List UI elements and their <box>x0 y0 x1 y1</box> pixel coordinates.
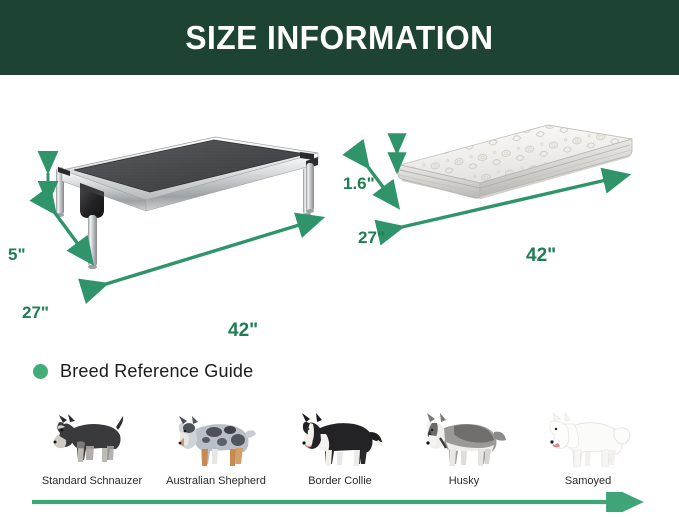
breed-item-husky: Husky <box>402 392 526 487</box>
dim-label-bed-width: 27" <box>22 303 49 323</box>
elevated-bed-illustration <box>0 75 340 340</box>
breed-guide-heading: Breed Reference Guide <box>33 361 253 382</box>
breed-item-australian-shepherd: Australian Shepherd <box>154 392 278 487</box>
samoyed-image <box>540 400 636 472</box>
australian-shepherd-image <box>168 400 264 472</box>
breed-name: Standard Schnauzer <box>42 475 142 487</box>
page-title: SIZE INFORMATION <box>185 19 493 57</box>
dim-label-bed-height: 5" <box>8 245 26 265</box>
dim-arrow-length <box>106 218 322 284</box>
husky-image <box>416 400 512 472</box>
breed-name: Australian Shepherd <box>166 475 266 487</box>
product-diagrams: 5" 27" 42" <box>0 75 679 340</box>
dim-label-mattress-length: 42" <box>526 245 556 267</box>
breed-guide-title: Breed Reference Guide <box>60 361 253 382</box>
schnauzer-image <box>44 400 140 472</box>
page-header: SIZE INFORMATION <box>0 0 679 75</box>
product-elevated-bed: 5" 27" 42" <box>0 75 340 340</box>
breed-name: Husky <box>449 475 480 487</box>
dim-arrow-depth <box>55 213 92 263</box>
mattress-illustration <box>340 75 679 340</box>
breed-name: Border Collie <box>308 475 372 487</box>
breed-name: Samoyed <box>565 475 611 487</box>
border-collie-image <box>292 400 388 472</box>
dim-label-mattress-width: 27" <box>358 228 385 248</box>
size-progression-arrow <box>30 492 650 512</box>
breed-reference-section: Breed Reference Guide <box>0 340 679 518</box>
product-mattress-pad: 1.6" 27" 42" <box>340 75 679 340</box>
dim-label-bed-length: 42" <box>228 320 258 342</box>
green-dot-icon <box>33 364 48 379</box>
breed-item-standard-schnauzer: Standard Schnauzer <box>30 392 154 487</box>
bed-leg-front-right <box>306 163 314 213</box>
breed-list: Standard Schnauzer <box>30 392 650 487</box>
size-information-infographic: SIZE INFORMATION <box>0 0 679 518</box>
breed-item-samoyed: Samoyed <box>526 392 650 487</box>
breed-item-border-collie: Border Collie <box>278 392 402 487</box>
dim-label-mattress-height: 1.6" <box>343 174 375 194</box>
